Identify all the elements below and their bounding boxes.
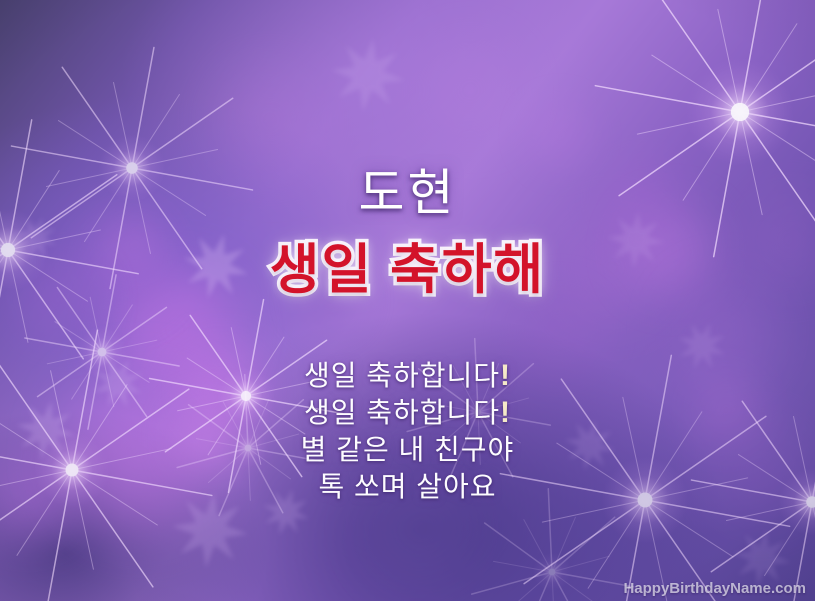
exclamation-mark: ! [500, 359, 511, 392]
verse-line: 생일 축하합니다! [0, 357, 815, 394]
recipient-name: 도현 [0, 168, 815, 218]
verse-line: 생일 축하합니다! [0, 394, 815, 431]
verse-line-text: 톡 쏘며 살아요 [318, 471, 496, 502]
bokeh-circle [426, 46, 514, 134]
background-color-blooms [0, 0, 815, 601]
birthday-card: 도현 생일 축하해 생일 축하합니다!생일 축하합니다!별 같은 내 친구야톡 … [0, 0, 815, 601]
verse-line-text: 생일 축하합니다 [304, 360, 500, 391]
verse-block: 생일 축하합니다!생일 축하합니다!별 같은 내 친구야톡 쏘며 살아요 [0, 357, 815, 505]
verse-line-text: 별 같은 내 친구야 [301, 434, 515, 465]
bokeh-circle [530, 105, 590, 165]
eight-point-stars-layer [0, 0, 815, 601]
verse-line: 별 같은 내 친구야 [0, 431, 815, 468]
starburst-sparkle [590, 0, 815, 262]
eight-point-star-icon [326, 33, 410, 117]
background-vignette [0, 0, 815, 601]
bokeh-circle [218, 68, 322, 172]
verse-line-text: 생일 축하합니다 [304, 397, 500, 428]
watermark-label: HappyBirthdayName.com [623, 580, 806, 597]
background-gradient [0, 0, 815, 601]
exclamation-mark: ! [500, 396, 511, 429]
starburst-sparkles-layer [0, 0, 815, 601]
birthday-headline: 생일 축하해 [0, 243, 815, 297]
bokeh-circles-layer [0, 0, 815, 601]
verse-line: 톡 쏘며 살아요 [0, 468, 815, 505]
